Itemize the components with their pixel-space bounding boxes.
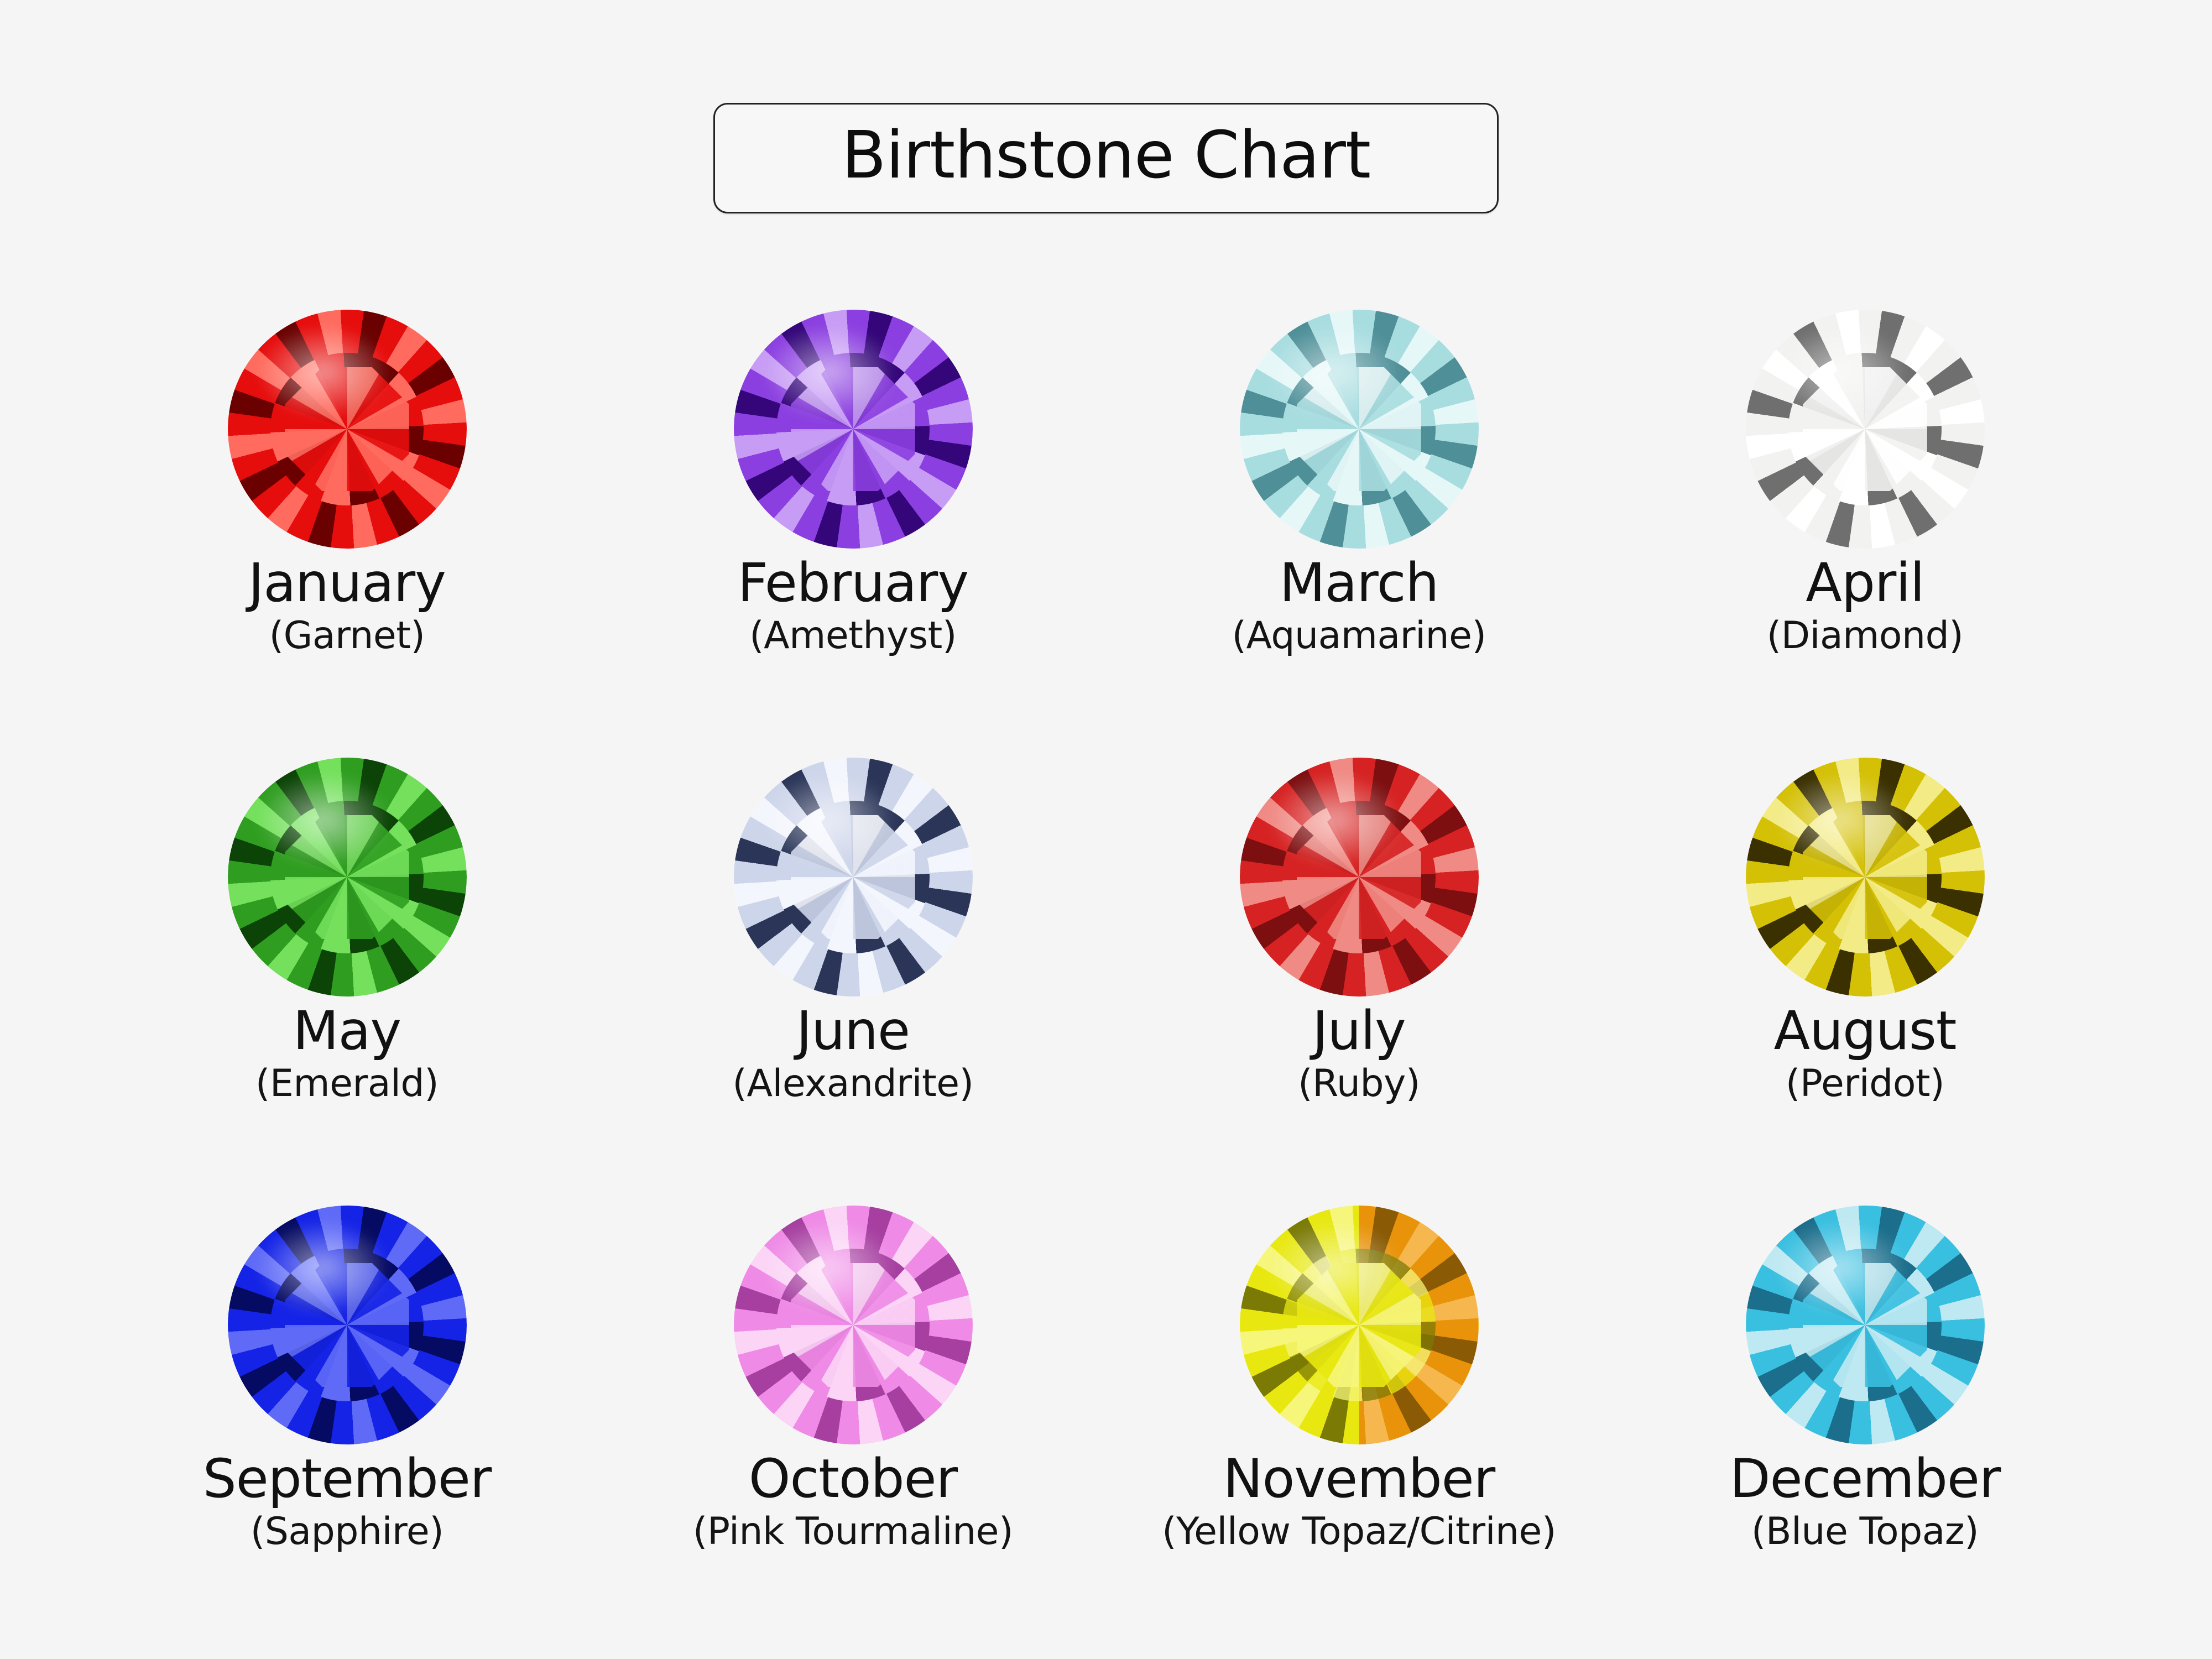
gem-highlight: [1774, 324, 1908, 420]
month-name: August: [1774, 1004, 1957, 1057]
birthstone-label: December(Blue Topaz): [1730, 1452, 2001, 1551]
birthstone-label: February(Amethyst): [738, 556, 968, 655]
gem-highlight: [1774, 772, 1908, 868]
round-brilliant-gem-icon: [734, 310, 973, 549]
stone-name: (Amethyst): [738, 617, 968, 655]
birthstone-cell: August(Peridot): [1612, 758, 2118, 1206]
stone-name: (Emerald): [255, 1065, 439, 1103]
birthstone-cell: January(Garnet): [94, 310, 600, 758]
birthstone-label: June(Alexandrite): [732, 1004, 973, 1103]
title-box: Birthstone Chart: [713, 103, 1499, 213]
birthstone-cell: March(Aquamarine): [1106, 310, 1612, 758]
birthstone-cell: June(Alexandrite): [600, 758, 1106, 1206]
birthstone-label: April(Diamond): [1767, 556, 1964, 655]
birthstone-label: October(Pink Tourmaline): [693, 1452, 1013, 1551]
birthstone-label: November(Yellow Topaz/Citrine): [1162, 1452, 1556, 1551]
gem-highlight: [1268, 1220, 1402, 1316]
gem-highlight: [1268, 772, 1402, 868]
stone-name: (Pink Tourmaline): [693, 1513, 1013, 1551]
gem-highlight: [1774, 1220, 1908, 1316]
stone-name: (Peridot): [1774, 1065, 1957, 1103]
month-name: April: [1767, 556, 1964, 609]
round-brilliant-gem-icon: [734, 758, 973, 997]
round-brilliant-gem-icon: [1746, 310, 1985, 549]
birthstone-label: January(Garnet): [248, 556, 446, 655]
round-brilliant-gem-icon: [1746, 1206, 1985, 1444]
birthstone-label: May(Emerald): [255, 1004, 439, 1103]
round-brilliant-gem-icon: [228, 758, 467, 997]
stone-name: (Diamond): [1767, 617, 1964, 655]
birthstone-cell: September(Sapphire): [94, 1206, 600, 1653]
round-brilliant-gem-icon: [734, 1206, 973, 1444]
birthstone-cell: May(Emerald): [94, 758, 600, 1206]
month-name: February: [738, 556, 968, 609]
birthstone-cell: October(Pink Tourmaline): [600, 1206, 1106, 1653]
gem-highlight: [256, 772, 390, 868]
birthstone-label: September(Sapphire): [203, 1452, 492, 1551]
gem-highlight: [256, 1220, 390, 1316]
gem-highlight: [256, 324, 390, 420]
round-brilliant-gem-icon: [228, 1206, 467, 1444]
month-name: December: [1730, 1452, 2001, 1505]
round-brilliant-gem-icon: [1240, 310, 1479, 549]
birthstone-grid: January(Garnet)February(Amethyst)March(A…: [94, 310, 2118, 1653]
month-name: January: [248, 556, 446, 609]
stone-name: (Garnet): [248, 617, 446, 655]
month-name: September: [203, 1452, 492, 1505]
stone-name: (Yellow Topaz/Citrine): [1162, 1513, 1556, 1551]
birthstone-cell: November(Yellow Topaz/Citrine): [1106, 1206, 1612, 1653]
stone-name: (Blue Topaz): [1730, 1513, 2001, 1551]
month-name: November: [1162, 1452, 1556, 1505]
birthstone-cell: February(Amethyst): [600, 310, 1106, 758]
month-name: March: [1232, 556, 1486, 609]
gem-highlight: [1268, 324, 1402, 420]
month-name: October: [693, 1452, 1013, 1505]
gem-highlight: [762, 324, 896, 420]
gem-highlight: [762, 772, 896, 868]
stone-name: (Sapphire): [203, 1513, 492, 1551]
birthstone-label: July(Ruby): [1298, 1004, 1420, 1103]
birthstone-cell: December(Blue Topaz): [1612, 1206, 2118, 1653]
stone-name: (Aquamarine): [1232, 617, 1486, 655]
month-name: July: [1298, 1004, 1420, 1057]
round-brilliant-gem-icon: [1240, 758, 1479, 997]
birthstone-label: March(Aquamarine): [1232, 556, 1486, 655]
birthstone-cell: April(Diamond): [1612, 310, 2118, 758]
round-brilliant-gem-icon: [228, 310, 467, 549]
round-brilliant-split-gem-icon: [1240, 1206, 1479, 1444]
month-name: May: [255, 1004, 439, 1057]
gem-highlight: [762, 1220, 896, 1316]
birthstone-label: August(Peridot): [1774, 1004, 1957, 1103]
birthstone-cell: July(Ruby): [1106, 758, 1612, 1206]
month-name: June: [732, 1004, 973, 1057]
stone-name: (Ruby): [1298, 1065, 1420, 1103]
stone-name: (Alexandrite): [732, 1065, 973, 1103]
round-brilliant-gem-icon: [1746, 758, 1985, 997]
page-title: Birthstone Chart: [842, 121, 1370, 190]
title-container: Birthstone Chart: [0, 103, 2212, 213]
